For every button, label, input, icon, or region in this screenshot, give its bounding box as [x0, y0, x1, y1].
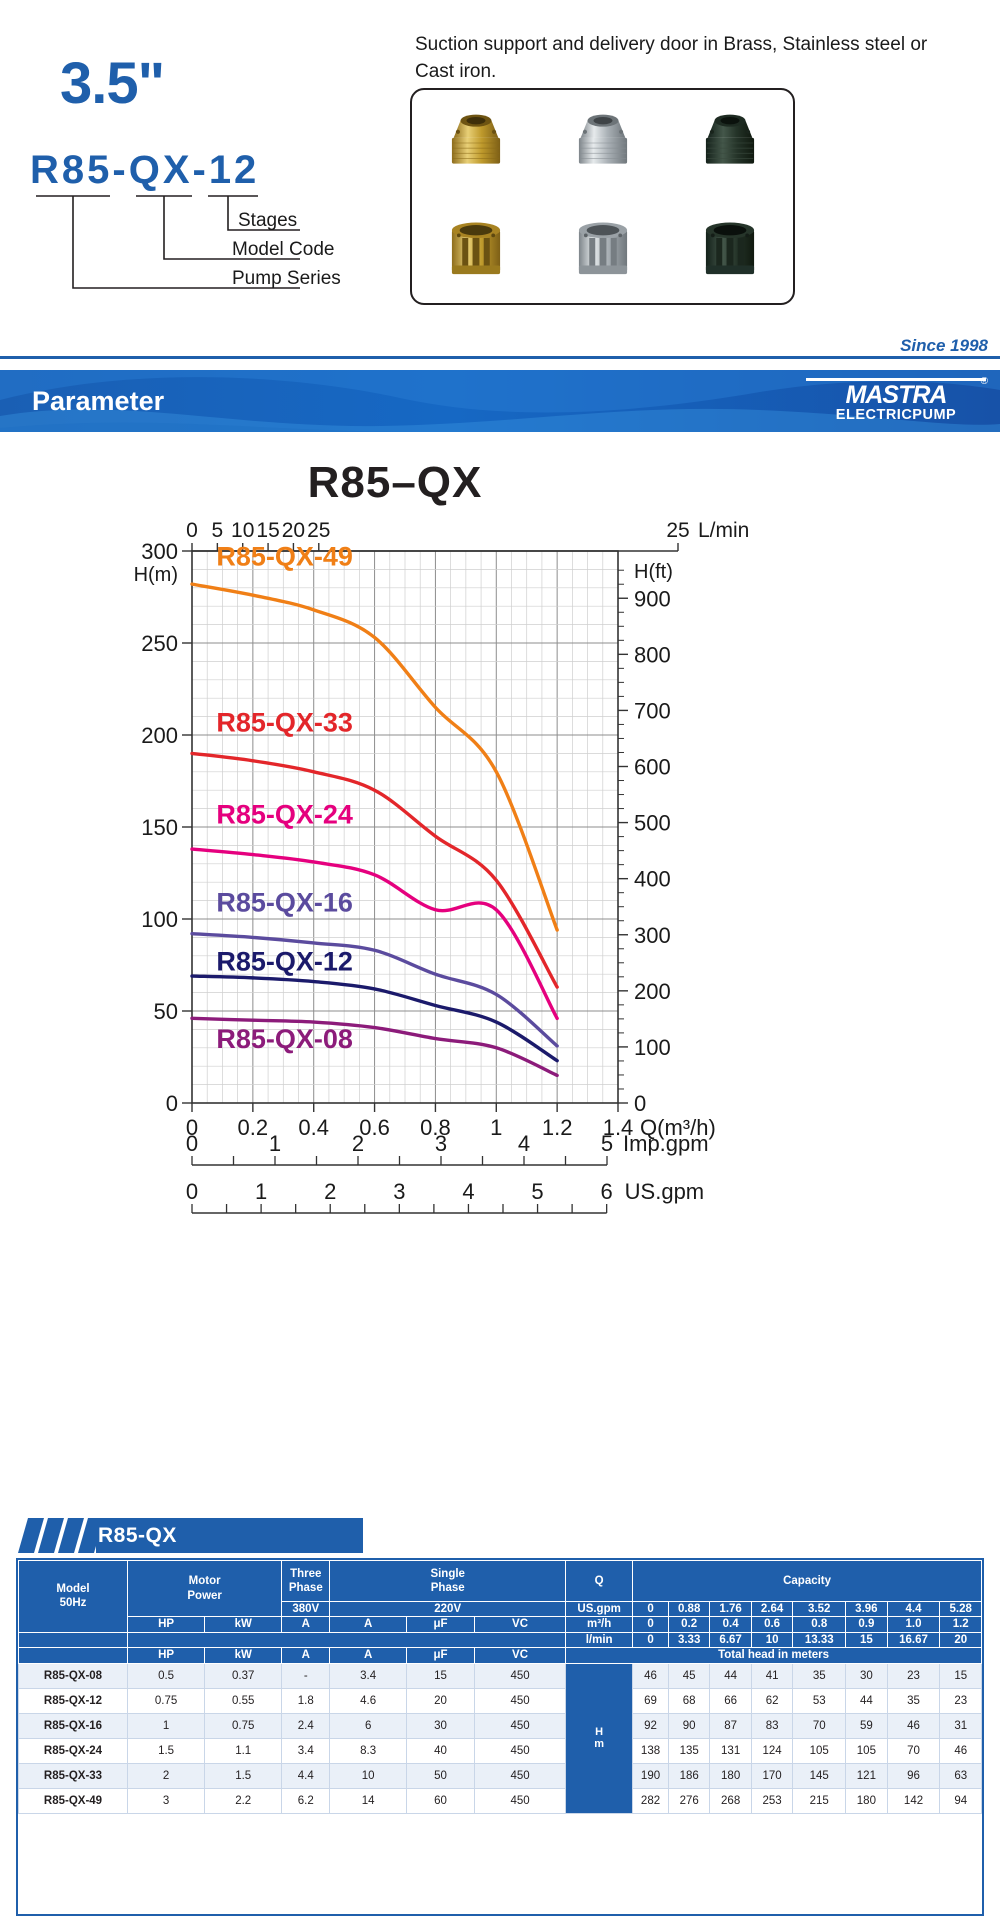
cell-head-1: 282 [633, 1788, 669, 1813]
th-220v: 220V [330, 1602, 566, 1617]
cell-head-8: 63 [940, 1763, 982, 1788]
th-a-three2: A [282, 1648, 330, 1663]
bottom-axis-tick-label: 0.2 [238, 1115, 269, 1140]
parameter-banner: Parameter MASTRA ELECTRICPUMP ® [0, 370, 1000, 432]
cap-lmin-7: 20 [940, 1632, 982, 1647]
table-row: R85-QX-241.51.13.48.34045013813513112410… [19, 1738, 982, 1763]
leader-label-pump-series: Pump Series [232, 268, 341, 290]
part-brass-suction-support [433, 207, 519, 293]
cell-head-1: 46 [633, 1663, 669, 1688]
right-axis-tick-label: 800 [634, 642, 671, 667]
cell-head-5: 53 [793, 1688, 846, 1713]
cell-amp-single-phase: 14 [330, 1788, 407, 1813]
table-head: Model 50Hz Motor Power Three Phase Singl… [19, 1561, 982, 1664]
right-axis-tick-label: 500 [634, 811, 671, 836]
table-row: R85-QX-3321.54.4105045019018618017014512… [19, 1763, 982, 1788]
cap-m3h-1: 0.2 [668, 1617, 709, 1632]
logo-wordmark: MASTRA [806, 378, 986, 408]
cap-m3h-6: 1.0 [887, 1617, 940, 1632]
us-gpm-tick-label: 0 [186, 1179, 198, 1204]
cell-head-4: 62 [751, 1688, 792, 1713]
cell-model: R85-QX-49 [19, 1788, 128, 1813]
th-a-single: A [330, 1617, 407, 1632]
th-a-three: A [282, 1617, 330, 1632]
cell-head-8: 31 [940, 1713, 982, 1738]
curve-label-r85-qx-24: R85-QX-24 [216, 799, 353, 829]
table-row: R85-QX-080.50.37-3.415450Hm4645444135302… [19, 1663, 982, 1688]
cell-head-5: 215 [793, 1788, 846, 1813]
cell-kw: 0.75 [205, 1713, 282, 1738]
cell-head-6: 180 [846, 1788, 887, 1813]
th-model-line1: Model [19, 1582, 127, 1596]
th-single-line1: Single [330, 1567, 565, 1581]
cell-head-5: 35 [793, 1663, 846, 1688]
cell-amp-three-phase: 1.8 [282, 1688, 330, 1713]
part-castiron-suction-support [687, 207, 773, 293]
cell-amp-three-phase: 6.2 [282, 1788, 330, 1813]
cell-head-6: 30 [846, 1663, 887, 1688]
th-q: Q [566, 1561, 633, 1602]
cell-capacitor-vc: 450 [474, 1713, 565, 1738]
cap-lmin-3: 10 [751, 1632, 792, 1647]
top-axis-tick-label: 15 [256, 519, 279, 542]
top-axis-tick-label: 25 [307, 519, 330, 542]
th-kw: kW [205, 1617, 282, 1632]
imp-gpm-tick-label: 5 [601, 1131, 613, 1156]
top-axis-tick-label: 10 [231, 519, 254, 542]
specification-table-section: R85-QX Model 50Hz Motor Power Three Phas… [0, 1490, 1000, 1931]
right-axis-tick-label: 900 [634, 586, 671, 611]
cell-head-5: 145 [793, 1763, 846, 1788]
cell-head-5: 105 [793, 1738, 846, 1763]
cap-m3h-7: 1.2 [940, 1617, 982, 1632]
cell-head-1: 92 [633, 1713, 669, 1738]
us-gpm-tick-label: 6 [601, 1179, 613, 1204]
cell-head-7: 96 [887, 1763, 940, 1788]
top-axis-tick-label: 5 [212, 519, 224, 542]
th-vc2: VC [474, 1648, 565, 1663]
suction-support-caption: Suction support and delivery door in Bra… [415, 32, 935, 86]
table-row: R85-QX-4932.26.2146045028227626825321518… [19, 1788, 982, 1813]
cell-head-7: 142 [887, 1788, 940, 1813]
table-body: R85-QX-080.50.37-3.415450Hm4645444135302… [19, 1663, 982, 1813]
th-model: Model 50Hz [19, 1561, 128, 1633]
cell-head-3: 131 [710, 1738, 751, 1763]
cell-model: R85-QX-33 [19, 1763, 128, 1788]
th-m3h: m³/h [566, 1617, 633, 1632]
th-uf2: μF [407, 1648, 475, 1663]
top-axis-label: L/min [698, 519, 749, 542]
th-model-line2: 50Hz [19, 1596, 127, 1610]
cell-head-1: 190 [633, 1763, 669, 1788]
imp-gpm-tick-label: 3 [435, 1131, 447, 1156]
cell-amp-single-phase: 10 [330, 1763, 407, 1788]
left-axis-tick-label: 200 [141, 723, 178, 748]
registered-trademark-icon: ® [981, 376, 988, 387]
cell-head-6: 105 [846, 1738, 887, 1763]
cell-capacitor-vc: 450 [474, 1663, 565, 1688]
pump-size-label: 3.5" [60, 50, 164, 117]
right-axis-label: H(ft) [634, 561, 673, 583]
cell-head-2: 68 [668, 1688, 709, 1713]
table-header-row-3: HP kW A A μF VC m³/h 0 0.2 0.4 0.6 0.8 0… [19, 1617, 982, 1632]
cell-head-8: 94 [940, 1788, 982, 1813]
th-a-single2: A [330, 1648, 407, 1663]
cell-head-7: 70 [887, 1738, 940, 1763]
cell-kw: 0.55 [205, 1688, 282, 1713]
th-hp: HP [128, 1617, 205, 1632]
cell-capacitor-uf: 30 [407, 1713, 475, 1738]
cap-lmin-0: 0 [633, 1632, 669, 1647]
logo-subtitle: ELECTRICPUMP [806, 408, 986, 424]
cell-amp-single-phase: 8.3 [330, 1738, 407, 1763]
cell-capacitor-vc: 450 [474, 1763, 565, 1788]
cap-usgpm-7: 5.28 [940, 1602, 982, 1617]
table-row: R85-QX-120.750.551.84.620450696866625344… [19, 1688, 982, 1713]
cap-m3h-0: 0 [633, 1617, 669, 1632]
th-single-line2: Phase [330, 1581, 565, 1595]
leader-label-model-code: Model Code [232, 239, 334, 261]
cell-head-4: 253 [751, 1788, 792, 1813]
left-axis-tick-label: 150 [141, 815, 178, 840]
cell-head-4: 124 [751, 1738, 792, 1763]
th-usgpm: US.gpm [566, 1602, 633, 1617]
left-axis-tick-label: 50 [154, 999, 178, 1024]
cap-lmin-4: 13.33 [793, 1632, 846, 1647]
cell-capacitor-uf: 50 [407, 1763, 475, 1788]
curve-label-r85-qx-16: R85-QX-16 [216, 888, 353, 918]
cell-head-2: 45 [668, 1663, 709, 1688]
cap-usgpm-6: 4.4 [887, 1602, 940, 1617]
cell-kw: 0.37 [205, 1663, 282, 1688]
th-vc: VC [474, 1617, 565, 1632]
th-total-head: Total head in meters [566, 1648, 982, 1663]
cell-head-7: 35 [887, 1688, 940, 1713]
cell-head-7: 23 [887, 1663, 940, 1688]
cell-amp-single-phase: 4.6 [330, 1688, 407, 1713]
us-gpm-tick-label: 1 [255, 1179, 267, 1204]
cell-head-unit: Hm [566, 1663, 633, 1813]
cell-head-3: 87 [710, 1713, 751, 1738]
curve-label-r85-qx-49: R85-QX-49 [216, 542, 353, 572]
cell-hp: 1 [128, 1713, 205, 1738]
cell-head-2: 186 [668, 1763, 709, 1788]
cap-m3h-2: 0.4 [710, 1617, 751, 1632]
part-castiron-delivery-door [687, 100, 773, 186]
th-hp2: HP [128, 1648, 205, 1663]
cap-usgpm-5: 3.96 [846, 1602, 887, 1617]
table-tag-label: R85-QX [98, 1524, 177, 1548]
curve-label-r85-qx-12: R85-QX-12 [216, 947, 353, 977]
part-stainless-suction-support [560, 207, 646, 293]
th-motor-line2: Power [128, 1589, 281, 1603]
product-identification-section: 3.5" R85-QX-12 Stages Model Code Pump Se… [0, 0, 1000, 345]
cell-hp: 0.5 [128, 1663, 205, 1688]
bottom-axis-tick-label: 0.4 [298, 1115, 329, 1140]
cell-head-6: 59 [846, 1713, 887, 1738]
cap-m3h-4: 0.8 [793, 1617, 846, 1632]
cell-hp: 2 [128, 1763, 205, 1788]
th-three-phase: Three Phase [282, 1561, 330, 1602]
cell-head-4: 83 [751, 1713, 792, 1738]
left-axis-tick-label: 300 [141, 539, 178, 564]
curve-label-r85-qx-08: R85-QX-08 [216, 1024, 353, 1054]
cell-head-3: 44 [710, 1663, 751, 1688]
parts-photo-box [410, 88, 795, 305]
th-uf: μF [407, 1617, 475, 1632]
right-axis-tick-label: 300 [634, 923, 671, 948]
th-motor-power: Motor Power [128, 1561, 282, 1617]
cell-head-3: 180 [710, 1763, 751, 1788]
cell-head-7: 46 [887, 1713, 940, 1738]
cap-lmin-6: 16.67 [887, 1632, 940, 1647]
cap-m3h-3: 0.6 [751, 1617, 792, 1632]
cap-lmin-1: 3.33 [668, 1632, 709, 1647]
cell-model: R85-QX-16 [19, 1713, 128, 1738]
table-tag-ribbon [18, 1518, 363, 1553]
us-gpm-tick-label: 4 [462, 1179, 474, 1204]
cell-capacitor-uf: 20 [407, 1688, 475, 1713]
cell-head-3: 268 [710, 1788, 751, 1813]
cell-amp-single-phase: 3.4 [330, 1663, 407, 1688]
imp-gpm-tick-label: 0 [186, 1131, 198, 1156]
imp-gpm-tick-label: 1 [269, 1131, 281, 1156]
imp-gpm-axis-label: Imp.gpm [623, 1131, 709, 1156]
cap-lmin-5: 15 [846, 1632, 887, 1647]
us-gpm-tick-label: 2 [324, 1179, 336, 1204]
imp-gpm-tick-label: 2 [352, 1131, 364, 1156]
curve-label-r85-qx-33: R85-QX-33 [216, 707, 353, 737]
left-axis-tick-label: 0 [166, 1091, 178, 1116]
th-single-phase: Single Phase [330, 1561, 566, 1602]
part-brass-delivery-door [433, 100, 519, 186]
right-axis-tick-label: 700 [634, 698, 671, 723]
part-stainless-delivery-door [560, 100, 646, 186]
cell-head-8: 23 [940, 1688, 982, 1713]
cell-head-4: 41 [751, 1663, 792, 1688]
cap-usgpm-4: 3.52 [793, 1602, 846, 1617]
imp-gpm-tick-label: 4 [518, 1131, 530, 1156]
us-gpm-tick-label: 3 [393, 1179, 405, 1204]
cell-hp: 3 [128, 1788, 205, 1813]
mastra-logo: MASTRA ELECTRICPUMP ® [806, 378, 986, 426]
table-row: R85-QX-1610.752.46304509290878370594631 [19, 1713, 982, 1738]
table-header-row-1: Model 50Hz Motor Power Three Phase Singl… [19, 1561, 982, 1602]
cap-usgpm-1: 0.88 [668, 1602, 709, 1617]
cell-kw: 2.2 [205, 1788, 282, 1813]
th-380v: 380V [282, 1602, 330, 1617]
right-axis-tick-label: 200 [634, 979, 671, 1004]
banner-title: Parameter [32, 386, 164, 417]
left-axis-label: H(m) [134, 564, 178, 586]
cell-amp-three-phase: 2.4 [282, 1713, 330, 1738]
right-axis-tick-label: 600 [634, 755, 671, 780]
table-header-row-4: l/min 0 3.33 6.67 10 13.33 15 16.67 20 [19, 1632, 982, 1647]
cell-head-2: 276 [668, 1788, 709, 1813]
top-axis-tick-label: 20 [282, 519, 305, 542]
cell-capacitor-uf: 40 [407, 1738, 475, 1763]
cell-kw: 1.1 [205, 1738, 282, 1763]
cap-m3h-5: 0.9 [846, 1617, 887, 1632]
th-kw2: kW [205, 1648, 282, 1663]
cell-amp-single-phase: 6 [330, 1713, 407, 1738]
right-axis-tick-label: 0 [634, 1091, 646, 1116]
top-axis-tick-label: 0 [186, 519, 198, 542]
cell-head-5: 70 [793, 1713, 846, 1738]
since-label: Since 1998 [900, 336, 988, 356]
us-gpm-axis-label: US.gpm [625, 1179, 704, 1204]
cell-hp: 1.5 [128, 1738, 205, 1763]
performance-curve-chart: R85–QX 051015202525L/min3002502001501005… [0, 440, 1000, 1500]
cell-amp-three-phase: - [282, 1663, 330, 1688]
bottom-axis-tick-label: 1.2 [542, 1115, 573, 1140]
cell-head-8: 46 [940, 1738, 982, 1763]
right-axis-tick-label: 400 [634, 867, 671, 892]
pump-specification-table: Model 50Hz Motor Power Three Phase Singl… [18, 1560, 982, 1814]
cap-lmin-2: 6.67 [710, 1632, 751, 1647]
cell-model: R85-QX-24 [19, 1738, 128, 1763]
cell-model: R85-QX-12 [19, 1688, 128, 1713]
cell-capacitor-vc: 450 [474, 1738, 565, 1763]
cap-usgpm-2: 1.76 [710, 1602, 751, 1617]
cap-usgpm-0: 0 [633, 1602, 669, 1617]
right-axis-tick-label: 100 [634, 1035, 671, 1060]
th-motor-line1: Motor [128, 1574, 281, 1588]
cell-capacitor-uf: 60 [407, 1788, 475, 1813]
cell-head-1: 138 [633, 1738, 669, 1763]
th-three-line2: Phase [282, 1581, 329, 1595]
cell-head-2: 135 [668, 1738, 709, 1763]
th-three-line1: Three [282, 1567, 329, 1581]
cell-capacitor-vc: 450 [474, 1688, 565, 1713]
top-axis-tick-label: 25 [666, 519, 689, 542]
us-gpm-tick-label: 5 [531, 1179, 543, 1204]
header-divider-rule [0, 356, 1000, 359]
left-axis-tick-label: 100 [141, 907, 178, 932]
th-lmin: l/min [566, 1632, 633, 1647]
cell-head-6: 121 [846, 1763, 887, 1788]
cell-head-6: 44 [846, 1688, 887, 1713]
cell-amp-three-phase: 4.4 [282, 1763, 330, 1788]
chart-canvas: 051015202525L/min300250200150100500H(m)9… [0, 440, 1000, 1500]
cell-model: R85-QX-08 [19, 1663, 128, 1688]
cell-capacitor-uf: 15 [407, 1663, 475, 1688]
left-axis-tick-label: 250 [141, 631, 178, 656]
bottom-axis-tick-label: 1 [490, 1115, 502, 1140]
cell-hp: 0.75 [128, 1688, 205, 1713]
cap-usgpm-3: 2.64 [751, 1602, 792, 1617]
cell-head-1: 69 [633, 1688, 669, 1713]
cell-head-2: 90 [668, 1713, 709, 1738]
cell-head-3: 66 [710, 1688, 751, 1713]
cell-head-4: 170 [751, 1763, 792, 1788]
th-capacity: Capacity [633, 1561, 982, 1602]
table-header-row-5: HP kW A A μF VC Total head in meters [19, 1648, 982, 1663]
cell-amp-three-phase: 3.4 [282, 1738, 330, 1763]
leader-label-stages: Stages [238, 210, 297, 232]
cell-kw: 1.5 [205, 1763, 282, 1788]
cell-head-8: 15 [940, 1663, 982, 1688]
cell-capacitor-vc: 450 [474, 1788, 565, 1813]
